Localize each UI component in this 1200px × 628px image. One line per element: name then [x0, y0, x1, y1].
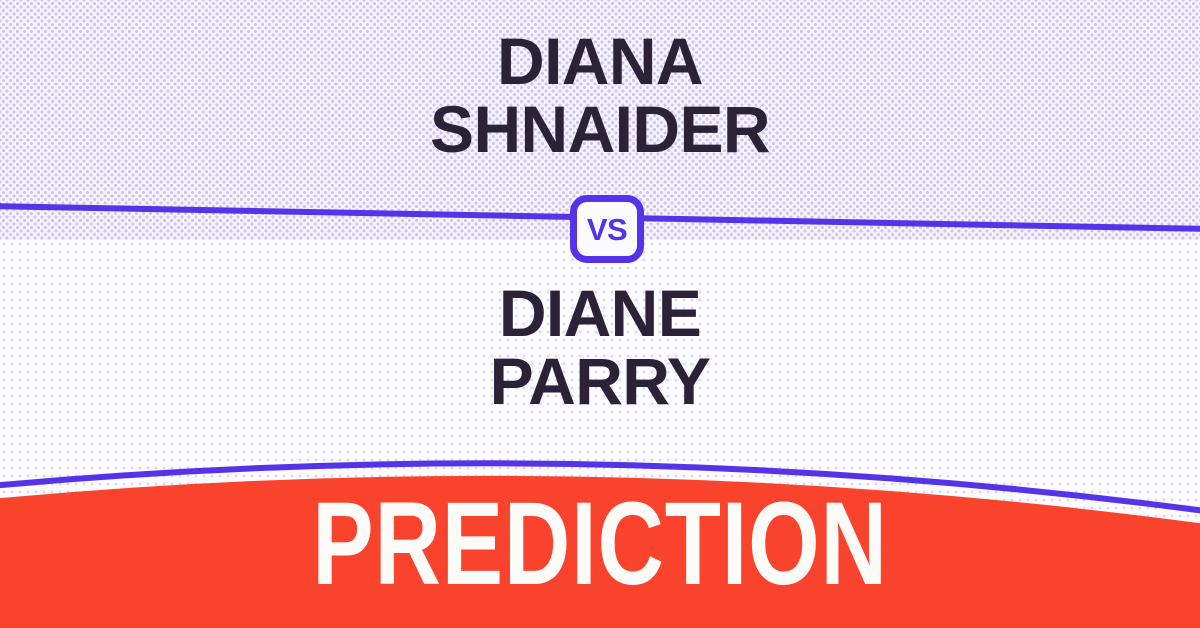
prediction-headline: PREDICTION: [132, 494, 1068, 594]
match-prediction-banner: DIANA SHNAIDER VS DIANE PARRY PREDICTION: [0, 0, 1200, 628]
